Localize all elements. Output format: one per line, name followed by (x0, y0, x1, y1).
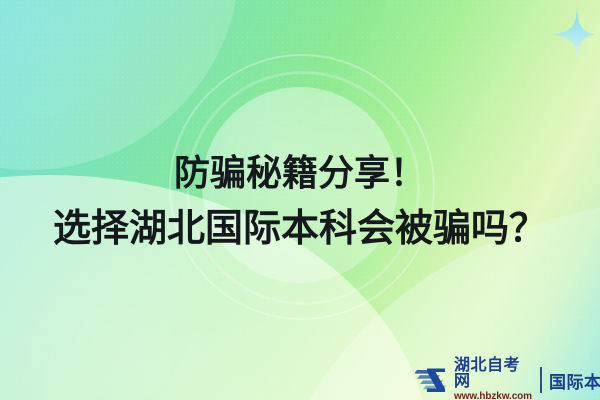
corner-arc-decoration (0, 0, 240, 170)
brand-logo[interactable]: 湖北自考网 www.hbzkw.com 国际本科 (415, 358, 600, 400)
headline-line-1: 防骗秘籍分享！ (0, 146, 600, 201)
brand-text-block: 湖北自考网 www.hbzkw.com (454, 358, 532, 400)
brand-name-cn: 湖北自考网 (454, 358, 532, 391)
brand-website-url: www.hbzkw.com (454, 391, 532, 400)
logo-divider (540, 367, 542, 393)
sparkle-star-icon (546, 8, 600, 62)
headline-line-2: 选择湖北国际本科会被骗吗？ (0, 201, 600, 259)
brand-tagline: 国际本科 (549, 368, 600, 393)
hbzkw-z-mark-icon (415, 365, 451, 395)
poster-canvas: 防骗秘籍分享！ 选择湖北国际本科会被骗吗？ 湖北自考网 www.hbzkw.co… (0, 0, 600, 400)
page-title: 防骗秘籍分享！ 选择湖北国际本科会被骗吗？ (0, 146, 600, 258)
